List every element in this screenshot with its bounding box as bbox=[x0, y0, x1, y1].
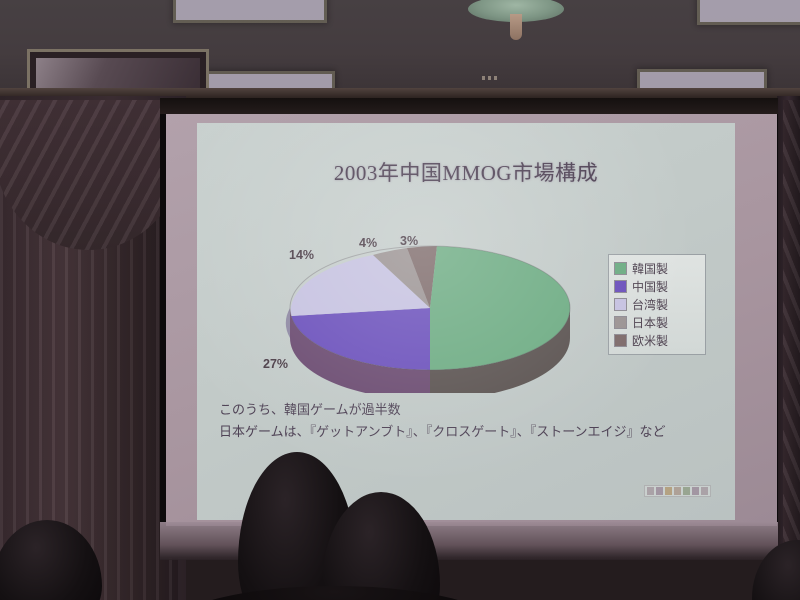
legend-swatch-china bbox=[614, 280, 627, 293]
legend-swatch-taiwan bbox=[614, 298, 627, 311]
list-icon bbox=[701, 487, 708, 495]
ceiling-pendant-lamp-stem bbox=[510, 14, 522, 40]
cup-icon bbox=[674, 487, 681, 495]
slide-icon-strip bbox=[644, 485, 711, 497]
legend-item-japan: 日本製 bbox=[614, 313, 700, 331]
legend-item-china: 中国製 bbox=[614, 277, 700, 295]
ceiling-light-panel bbox=[176, 0, 324, 20]
legend-label-korea: 韓国製 bbox=[632, 260, 668, 277]
page-icon bbox=[692, 487, 699, 495]
ceiling-light-panel bbox=[700, 0, 800, 22]
pie-slice-korea-top bbox=[430, 246, 570, 308]
ceiling bbox=[0, 0, 800, 96]
photo-scene: 2003年中国MMOG市場構成 bbox=[0, 0, 800, 600]
pie-top-face bbox=[291, 246, 571, 370]
curtain-right bbox=[783, 100, 800, 600]
person-icon bbox=[647, 487, 654, 495]
pie-label-taiwan: 14% bbox=[289, 248, 314, 262]
legend-label-china: 中国製 bbox=[632, 278, 668, 295]
slide-body-text: このうち、韓国ゲームが過半数 日本ゲームは、『ゲットアンブト』、『クロスゲート』… bbox=[219, 399, 719, 443]
pie-label-japan: 4% bbox=[359, 236, 377, 250]
legend-swatch-western bbox=[614, 334, 627, 347]
pie-side-taiwan bbox=[286, 308, 290, 338]
chart-icon bbox=[683, 487, 690, 495]
slide-body-line-2: 日本ゲームは、『ゲットアンブト』、『クロスゲート』、『ストーンエイジ』など bbox=[219, 421, 719, 443]
audience-shoulders bbox=[170, 586, 500, 600]
legend-swatch-japan bbox=[614, 316, 627, 329]
legend-swatch-korea bbox=[614, 262, 627, 275]
projection-screen-top-bar bbox=[160, 98, 778, 114]
key-icon bbox=[665, 487, 672, 495]
ceiling-sensor-icon bbox=[482, 76, 498, 80]
legend-label-japan: 日本製 bbox=[632, 314, 668, 331]
pie-label-china: 27% bbox=[263, 357, 288, 371]
legend-item-korea: 韓国製 bbox=[614, 259, 700, 277]
slide-title: 2003年中国MMOG市場構成 bbox=[197, 157, 735, 187]
legend-label-taiwan: 台湾製 bbox=[632, 296, 668, 313]
legend-label-western: 欧米製 bbox=[632, 332, 668, 349]
grid-icon bbox=[656, 487, 663, 495]
pie-label-western: 3% bbox=[400, 234, 418, 248]
chart-legend: 韓国製 中国製 台湾製 日本製 欧米製 bbox=[608, 254, 706, 355]
slide-body-line-1: このうち、韓国ゲームが過半数 bbox=[219, 399, 719, 421]
legend-item-taiwan: 台湾製 bbox=[614, 295, 700, 313]
legend-item-western: 欧米製 bbox=[614, 331, 700, 349]
